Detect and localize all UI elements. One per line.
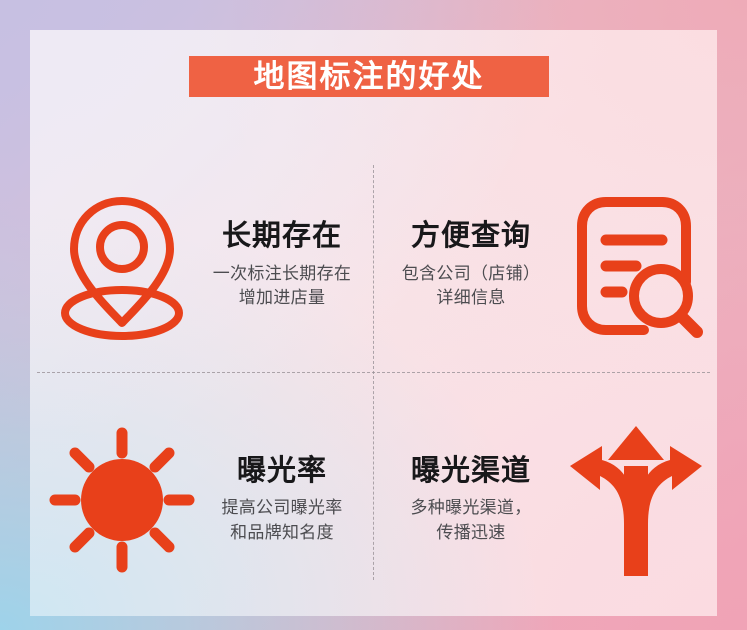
feature-desc-line-1: 多种曝光渠道， — [382, 496, 560, 521]
feature-desc-line-1: 一次标注长期存在 — [198, 262, 366, 287]
feature-text: 曝光渠道 多种曝光渠道， 传播迅速 — [380, 455, 562, 546]
feature-title: 方便查询 — [382, 220, 560, 252]
feature-description: 一次标注长期存在 增加进店量 — [198, 262, 366, 311]
divider-vertical — [373, 165, 374, 580]
map-pin-icon — [48, 188, 196, 343]
feature-title: 长期存在 — [198, 220, 366, 252]
title-banner: 地图标注的好处 — [189, 56, 549, 97]
feature-description: 提高公司曝光率 和品牌知名度 — [198, 496, 366, 545]
feature-card-exposure-channels: 曝光渠道 多种曝光渠道， 传播迅速 — [380, 410, 710, 590]
feature-card-exposure-rate: 曝光率 提高公司曝光率 和品牌知名度 — [48, 410, 368, 590]
feature-text: 方便查询 包含公司（店铺） 详细信息 — [380, 220, 562, 311]
feature-card-easy-search: 方便查询 包含公司（店铺） 详细信息 — [380, 168, 710, 363]
feature-desc-line-2: 传播迅速 — [382, 521, 560, 546]
document-search-icon — [562, 188, 710, 343]
sun-icon — [48, 423, 196, 578]
feature-desc-line-2: 和品牌知名度 — [198, 521, 366, 546]
feature-title: 曝光渠道 — [382, 455, 560, 487]
feature-title: 曝光率 — [198, 455, 366, 487]
three-way-arrow-icon — [562, 423, 710, 578]
feature-text: 曝光率 提高公司曝光率 和品牌知名度 — [196, 455, 368, 546]
poster-root: 地图标注的好处 长期存在 一次标注长期存在 增加进店量 — [0, 0, 747, 630]
feature-text: 长期存在 一次标注长期存在 增加进店量 — [196, 220, 368, 311]
page-title: 地图标注的好处 — [254, 61, 485, 92]
feature-description: 多种曝光渠道， 传播迅速 — [382, 496, 560, 545]
feature-desc-line-2: 增加进店量 — [198, 286, 366, 311]
feature-desc-line-1: 提高公司曝光率 — [198, 496, 366, 521]
feature-desc-line-2: 详细信息 — [382, 286, 560, 311]
feature-card-long-term: 长期存在 一次标注长期存在 增加进店量 — [48, 168, 368, 363]
feature-desc-line-1: 包含公司（店铺） — [382, 262, 560, 287]
feature-description: 包含公司（店铺） 详细信息 — [382, 262, 560, 311]
